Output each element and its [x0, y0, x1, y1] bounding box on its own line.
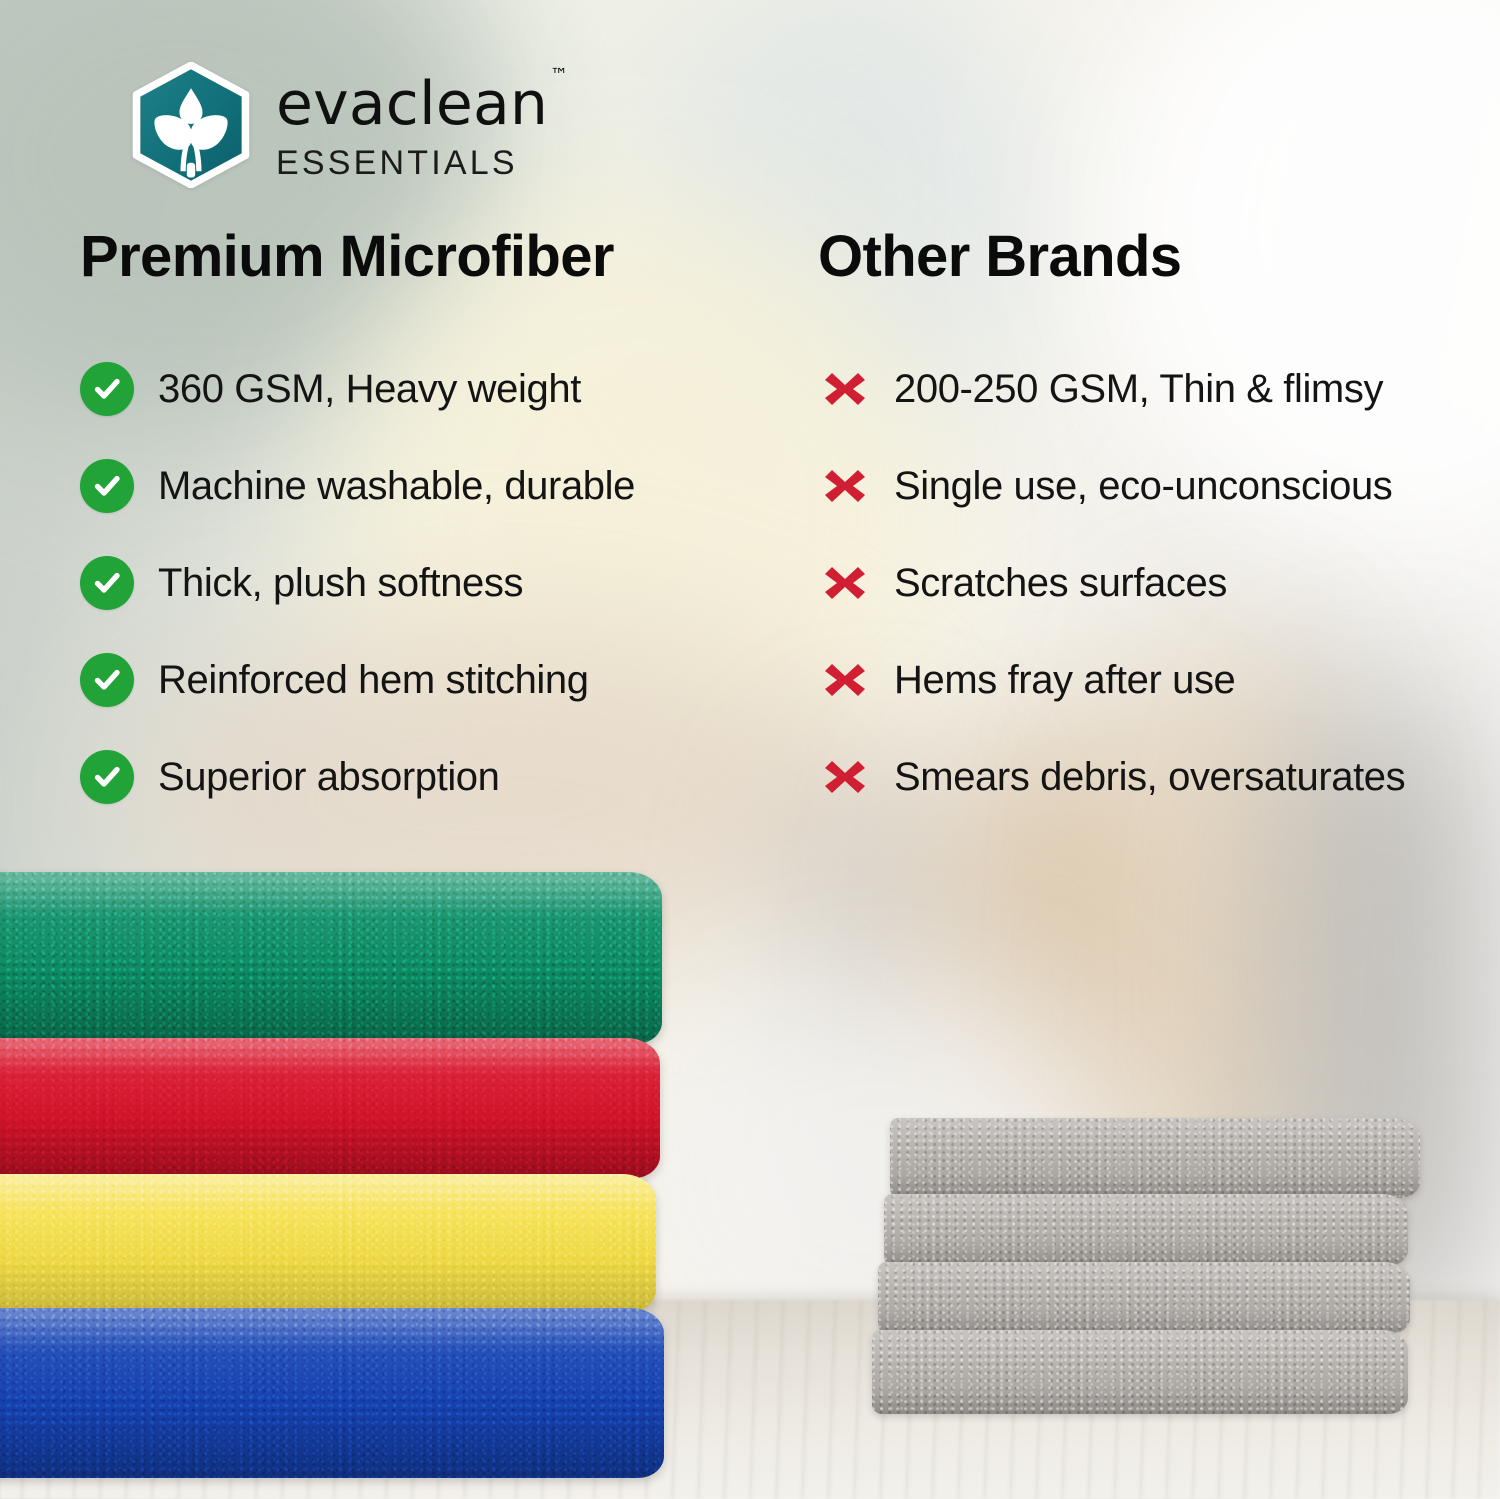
feature-label: Single use, eco-unconscious — [894, 464, 1392, 508]
towel-green — [0, 872, 662, 1044]
list-item: 360 GSM, Heavy weight — [80, 340, 800, 437]
list-item: 200-250 GSM, Thin & flimsy — [818, 340, 1500, 437]
premium-feature-list: 360 GSM, Heavy weight Machine washable, … — [80, 340, 800, 825]
brand-subtitle: ESSENTIALS — [276, 146, 566, 180]
towel-red — [0, 1038, 660, 1178]
brand-wordmark: evaclean™ ESSENTIALS — [276, 70, 566, 180]
trademark-symbol: ™ — [550, 65, 568, 86]
list-item: Machine washable, durable — [80, 437, 800, 534]
comparison-columns: Premium Microfiber 360 GSM, Heavy weight — [0, 228, 1500, 825]
towel-grey — [872, 1330, 1408, 1414]
hexagon-droplet-leaves-logo-icon — [128, 62, 254, 188]
product-comparison-infographic: evaclean™ ESSENTIALS Premium Microfiber … — [0, 0, 1500, 1499]
towel-grey — [890, 1118, 1420, 1198]
check-circle-icon — [80, 362, 134, 416]
premium-column-title: Premium Microfiber — [80, 228, 800, 286]
premium-microfiber-towel-stack — [0, 872, 688, 1412]
premium-column: Premium Microfiber 360 GSM, Heavy weight — [0, 228, 800, 825]
list-item: Smears debris, oversaturates — [818, 728, 1500, 825]
feature-label: Reinforced hem stitching — [158, 658, 589, 702]
towel-yellow — [0, 1174, 656, 1312]
cross-mark-icon — [818, 556, 872, 610]
cross-mark-icon — [818, 653, 872, 707]
other-brands-feature-list: 200-250 GSM, Thin & flimsy Single use, e… — [818, 340, 1500, 825]
list-item: Hems fray after use — [818, 631, 1500, 728]
towel-blue — [0, 1308, 664, 1478]
cross-mark-icon — [818, 459, 872, 513]
check-circle-icon — [80, 653, 134, 707]
check-circle-icon — [80, 750, 134, 804]
other-brands-column-title: Other Brands — [818, 228, 1500, 286]
list-item: Scratches surfaces — [818, 534, 1500, 631]
other-brands-column: Other Brands 200-250 GSM, Thin & flimsy — [800, 228, 1500, 825]
feature-label: 200-250 GSM, Thin & flimsy — [894, 367, 1383, 411]
list-item: Single use, eco-unconscious — [818, 437, 1500, 534]
check-circle-icon — [80, 556, 134, 610]
feature-label: Scratches surfaces — [894, 561, 1227, 605]
list-item: Reinforced hem stitching — [80, 631, 800, 728]
feature-label: Superior absorption — [158, 755, 500, 799]
list-item: Superior absorption — [80, 728, 800, 825]
cross-mark-icon — [818, 750, 872, 804]
check-circle-icon — [80, 459, 134, 513]
list-item: Thick, plush softness — [80, 534, 800, 631]
cross-mark-icon — [818, 362, 872, 416]
feature-label: Smears debris, oversaturates — [894, 755, 1405, 799]
feature-label: Machine washable, durable — [158, 464, 635, 508]
feature-label: Thick, plush softness — [158, 561, 523, 605]
feature-label: 360 GSM, Heavy weight — [158, 367, 581, 411]
brand-name: evaclean™ — [276, 74, 566, 134]
towel-grey — [878, 1262, 1410, 1334]
brand-logo-lockup: evaclean™ ESSENTIALS — [128, 62, 566, 188]
feature-label: Hems fray after use — [894, 658, 1235, 702]
towel-grey — [884, 1194, 1408, 1266]
brand-name-text: evaclean — [276, 69, 548, 139]
other-brand-towel-stack — [890, 1118, 1430, 1418]
